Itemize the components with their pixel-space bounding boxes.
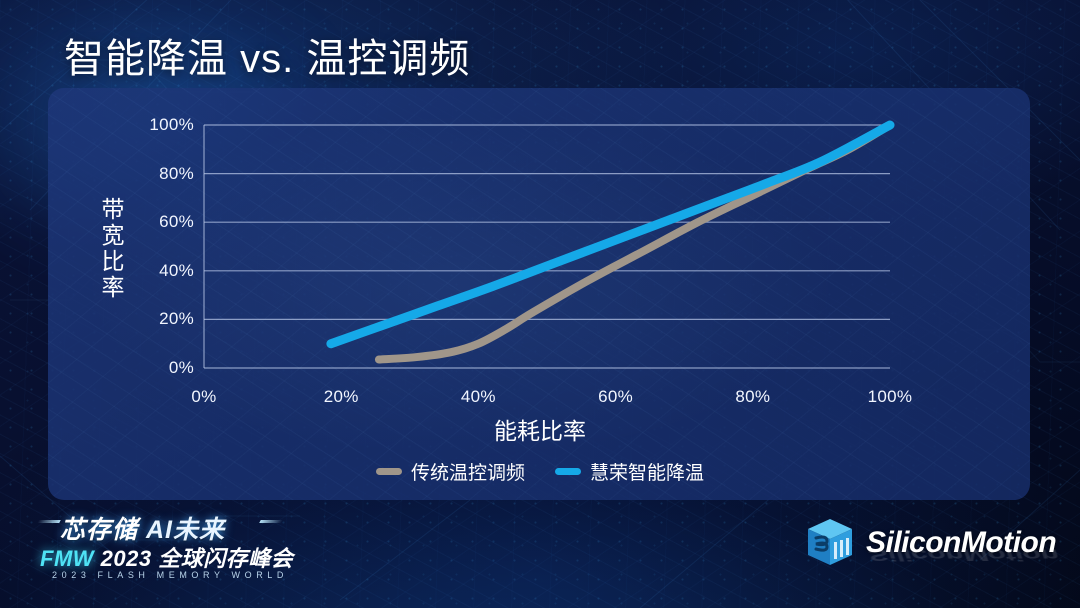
x-axis-tick-100pct: 100% xyxy=(850,387,930,407)
event-logo-name-cn: 全球闪存峰会 xyxy=(158,546,293,571)
event-logo-fmw: FMW xyxy=(40,546,94,571)
legend-label: 传统温控调频 xyxy=(411,458,525,485)
slide-root: 智能降温 vs. 温控调频 带宽比率 0%20%40%60%80%100%0%2… xyxy=(0,0,1080,608)
y-axis-label-char-1: 宽 xyxy=(96,222,130,248)
legend-swatch-icon xyxy=(376,468,402,475)
y-axis-label: 带宽比率 xyxy=(96,196,130,300)
y-axis-tick-60pct: 60% xyxy=(132,212,194,232)
y-axis-tick-40pct: 40% xyxy=(132,261,194,281)
page-title: 智能降温 vs. 温控调频 xyxy=(64,26,470,84)
y-axis-label-char-0: 带 xyxy=(96,196,130,222)
event-logo-year: 2023 xyxy=(101,546,152,571)
y-axis-tick-0pct: 0% xyxy=(132,358,194,378)
event-logo-tagline-a: 芯存储 xyxy=(60,516,138,544)
x-axis-tick-0pct: 0% xyxy=(164,387,244,407)
brand-logo: SiliconMotion SiliconMotion xyxy=(806,518,1056,568)
x-axis-tick-80pct: 80% xyxy=(713,387,793,407)
event-logo-tagline-b: AI未来 xyxy=(146,516,225,544)
x-axis-tick-20pct: 20% xyxy=(301,387,381,407)
x-axis-tick-60pct: 60% xyxy=(576,387,656,407)
event-logo-subtitle: 2023 FLASH MEMORY WORLD xyxy=(52,570,288,580)
y-axis-label-char-3: 率 xyxy=(96,274,130,300)
x-axis-label: 能耗比率 xyxy=(0,412,1080,446)
event-logo: 芯存储 AI未来 FMW 2023 全球闪存峰会 2023 FLASH MEMO… xyxy=(38,508,306,586)
silicon-motion-cube-icon xyxy=(806,518,854,568)
y-axis-tick-100pct: 100% xyxy=(132,115,194,135)
event-logo-name: FMW 2023 全球闪存峰会 xyxy=(40,541,293,573)
chart-legend: 传统温控调频慧荣智能降温 xyxy=(0,458,1080,485)
legend-label: 慧荣智能降温 xyxy=(590,458,704,485)
logo-slash-right-icon xyxy=(259,520,283,523)
legend-swatch-icon xyxy=(555,468,581,475)
logo-slash-left-icon xyxy=(37,520,61,523)
y-axis-tick-20pct: 20% xyxy=(132,309,194,329)
brand-wordmark-reflection: SiliconMotion xyxy=(868,545,1058,564)
y-axis-label-char-2: 比 xyxy=(96,248,130,274)
legend-item-traditional[interactable]: 传统温控调频 xyxy=(376,458,525,485)
y-axis-tick-80pct: 80% xyxy=(132,164,194,184)
legend-item-smi[interactable]: 慧荣智能降温 xyxy=(555,458,704,485)
x-axis-tick-40pct: 40% xyxy=(438,387,518,407)
